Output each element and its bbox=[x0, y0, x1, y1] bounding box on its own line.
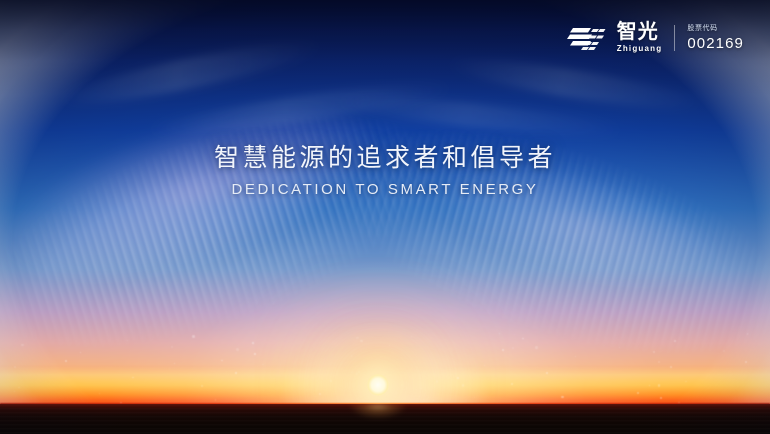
vertical-divider-icon bbox=[674, 25, 675, 51]
stock-code: 002169 bbox=[687, 36, 744, 51]
zhiguang-stacked-bars-icon bbox=[566, 25, 608, 51]
stock-label: 股票代码 bbox=[687, 25, 717, 32]
brand-wordmark: 智光 Zhiguang bbox=[617, 22, 663, 53]
brand-name-cn: 智光 bbox=[617, 22, 659, 42]
hero-banner: 智光 Zhiguang 股票代码 002169 智慧能源的追求者和倡导者 DED… bbox=[0, 0, 770, 434]
brand-name-en: Zhiguang bbox=[617, 45, 663, 53]
corner-vignette bbox=[0, 0, 770, 434]
stock-info: 股票代码 002169 bbox=[687, 25, 744, 51]
brand-logo[interactable]: 智光 Zhiguang 股票代码 002169 bbox=[566, 22, 744, 53]
